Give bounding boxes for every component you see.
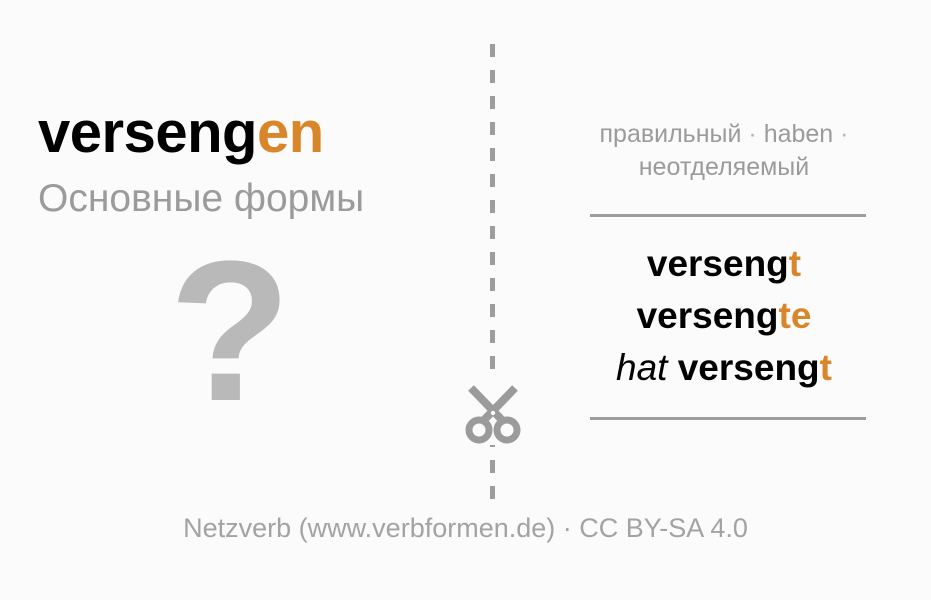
form-suffix: te <box>779 295 812 336</box>
verb-attributes: правильный · haben · неотделяемый <box>548 118 900 184</box>
conjugation-type: правильный <box>600 120 742 148</box>
separability: неотделяемый <box>639 153 810 181</box>
form-preterite: versengte <box>524 290 924 342</box>
question-mark-placeholder: ? <box>0 232 460 432</box>
divider-rule-bottom <box>590 417 866 420</box>
left-panel: versengen Основные формы ? <box>0 0 480 600</box>
verb-forms-card: versengen Основные формы ? правильный · … <box>0 0 931 600</box>
meta-separator-2: · <box>840 120 848 148</box>
headword-suffix: en <box>257 100 324 165</box>
form-stem: verseng <box>637 295 779 336</box>
right-panel: правильный · haben · неотделяемый versen… <box>520 0 931 600</box>
auxiliary-verb: haben <box>764 120 834 148</box>
principal-parts-list: versengt versengte hat versengt <box>524 238 924 394</box>
headword: versengen <box>38 103 324 164</box>
headword-stem: verseng <box>38 100 257 165</box>
form-suffix: t <box>789 243 801 284</box>
page-subtitle: Основные формы <box>38 178 364 221</box>
form-stem: verseng <box>647 243 789 284</box>
divider-rule-top <box>590 214 866 217</box>
form-suffix: t <box>820 347 832 388</box>
scissors-icon <box>461 381 525 445</box>
form-perfect: hat versengt <box>524 342 924 394</box>
form-auxiliary: hat <box>616 347 667 388</box>
form-stem: verseng <box>678 347 820 388</box>
form-present: versengt <box>524 238 924 290</box>
footer-attribution: Netzverb (www.verbformen.de) · CC BY-SA … <box>0 513 931 544</box>
meta-separator-1: · <box>748 120 756 148</box>
